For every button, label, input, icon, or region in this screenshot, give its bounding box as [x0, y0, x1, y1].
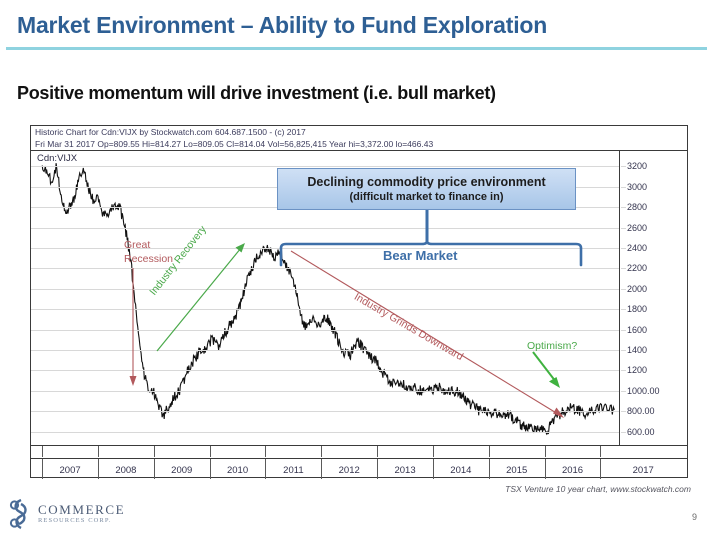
y-tick-mark: [621, 166, 626, 167]
x-axis-tick-upper: [265, 446, 266, 457]
x-tick-label: 2007: [60, 465, 81, 476]
x-tick-label: 2009: [171, 465, 192, 476]
gridline: [31, 228, 619, 229]
x-axis-tick: [321, 459, 322, 479]
gridline: [31, 411, 619, 412]
commerce-logo-icon: [8, 498, 34, 530]
x-axis-tick-upper: [600, 446, 601, 457]
y-tick-mark: [621, 248, 626, 249]
x-tick-label: 2015: [506, 465, 527, 476]
x-axis-tick: [265, 459, 266, 479]
page-number: 9: [692, 512, 697, 522]
gridline: [31, 309, 619, 310]
y-tick-mark: [621, 350, 626, 351]
y-tick-mark: [621, 370, 626, 371]
x-tick-label: 2008: [115, 465, 136, 476]
x-tick-label: 2017: [633, 465, 654, 476]
y-tick-mark: [621, 289, 626, 290]
y-tick-mark: [621, 432, 626, 433]
bear-market-label: Bear Market: [383, 248, 457, 263]
source-note: TSX Venture 10 year chart, www.stockwatc…: [505, 484, 691, 494]
callout-line-2: (difficult market to finance in): [349, 190, 503, 204]
x-tick-label: 2011: [283, 465, 303, 476]
gridline: [31, 432, 619, 433]
x-axis-tick-upper: [42, 446, 43, 457]
logo-company-name: COMMERCE: [38, 503, 125, 516]
y-tick-mark: [621, 187, 626, 188]
logo-text: COMMERCE RESOURCES CORP.: [38, 503, 125, 525]
x-axis-band: 2007200820092010201120122013201420152016…: [31, 458, 687, 479]
callout-line-1: Declining commodity price environment: [307, 175, 545, 190]
x-axis-tick: [600, 459, 601, 479]
y-tick-label: 1000.00: [627, 386, 660, 396]
slide: Market Environment – Ability to Fund Exp…: [0, 0, 713, 542]
x-tick-label: 2012: [339, 465, 360, 476]
x-axis-tick: [433, 459, 434, 479]
logo-company-subtitle: RESOURCES CORP.: [38, 518, 125, 525]
y-tick-mark: [621, 207, 626, 208]
chart-header-text: Historic Chart for Cdn:VIJX by Stockwatc…: [31, 126, 687, 151]
x-axis-tick-upper: [321, 446, 322, 457]
y-tick-label: 1800: [627, 304, 647, 314]
x-axis-tick: [210, 459, 211, 479]
x-axis-tick: [98, 459, 99, 479]
y-tick-mark: [621, 330, 626, 331]
page-title: Market Environment – Ability to Fund Exp…: [17, 12, 547, 39]
x-axis-tick-upper: [545, 446, 546, 457]
x-tick-label: 2014: [450, 465, 471, 476]
company-logo: COMMERCE RESOURCES CORP.: [8, 498, 125, 530]
y-axis: 3200300028002600240022002000180016001400…: [621, 151, 687, 445]
chart-header-line1: Historic Chart for Cdn:VIJX by Stockwatc…: [35, 127, 687, 139]
x-axis: 2007200820092010201120122013201420152016…: [31, 445, 687, 477]
y-tick-mark: [621, 411, 626, 412]
x-axis-tick-upper: [154, 446, 155, 457]
gridline: [31, 268, 619, 269]
slide-subtitle: Positive momentum will drive investment …: [17, 83, 496, 104]
y-tick-label: 2600: [627, 223, 647, 233]
y-tick-label: 3200: [627, 161, 647, 171]
gridline: [31, 248, 619, 249]
y-tick-label: 2000: [627, 284, 647, 294]
x-axis-tick-upper: [98, 446, 99, 457]
x-tick-label: 2016: [562, 465, 583, 476]
x-axis-tick-upper: [210, 446, 211, 457]
y-tick-label: 2800: [627, 202, 647, 212]
x-tick-label: 2010: [227, 465, 248, 476]
gridline: [31, 391, 619, 392]
x-axis-tick: [489, 459, 490, 479]
x-axis-tick-upper: [433, 446, 434, 457]
y-tick-label: 2400: [627, 243, 647, 253]
title-divider: [6, 47, 707, 50]
y-tick-label: 3000: [627, 182, 647, 192]
callout-declining-commodity: Declining commodity price environment (d…: [277, 168, 576, 210]
y-tick-mark: [621, 391, 626, 392]
y-tick-label: 1400: [627, 345, 647, 355]
x-axis-tick: [545, 459, 546, 479]
y-tick-label: 800.00: [627, 406, 655, 416]
y-tick-label: 1600: [627, 325, 647, 335]
gridline: [31, 370, 619, 371]
gridline: [31, 289, 619, 290]
x-axis-tick: [377, 459, 378, 479]
x-tick-label: 2013: [394, 465, 415, 476]
y-tick-label: 600.00: [627, 427, 655, 437]
y-tick-label: 2200: [627, 263, 647, 273]
x-axis-tick: [42, 459, 43, 479]
y-tick-mark: [621, 268, 626, 269]
y-tick-label: 1200: [627, 365, 647, 375]
y-tick-mark: [621, 228, 626, 229]
y-tick-mark: [621, 309, 626, 310]
x-axis-tick-upper: [489, 446, 490, 457]
x-axis-tick: [154, 459, 155, 479]
x-axis-tick-upper: [377, 446, 378, 457]
chart-header-line2: Fri Mar 31 2017 Op=809.55 Hi=814.27 Lo=8…: [35, 139, 687, 151]
optimism-label: Optimism?: [527, 340, 577, 352]
series-label: Cdn:VIJX: [37, 153, 77, 164]
gridline: [31, 330, 619, 331]
